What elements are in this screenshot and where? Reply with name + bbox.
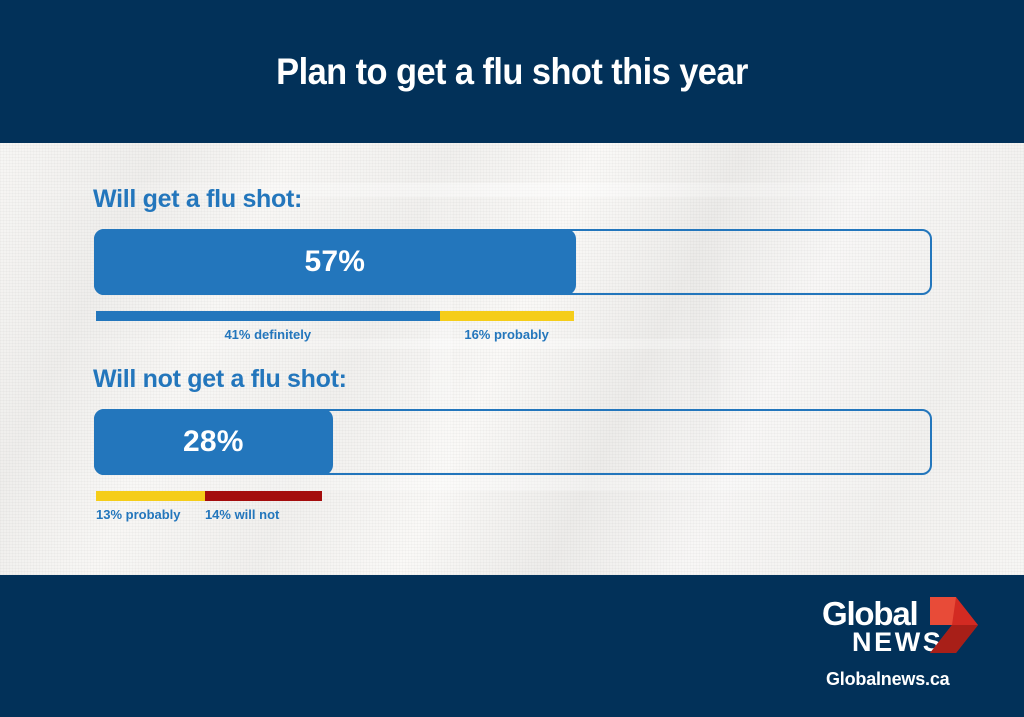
breakdown-segment-probably xyxy=(440,311,574,321)
breakdown-segment-definitely xyxy=(96,311,440,321)
breakdown-strip-will-not-get xyxy=(96,491,331,501)
bar-value-will-get: 57% xyxy=(305,245,366,279)
chart-area: Will get a flu shot: 57% 41% definitely … xyxy=(0,143,1024,575)
bar-track-will-get: 57% xyxy=(94,229,932,295)
logo-wordmark: Global NEWS xyxy=(820,599,980,665)
header-band: Plan to get a flu shot this year xyxy=(0,0,1024,143)
chevron-right-icon xyxy=(926,595,982,659)
legend-will-not-get: 13% probably 14% will not xyxy=(94,507,394,525)
legend-label-probably-not: 13% probably xyxy=(96,507,181,522)
breakdown-strip-will-get xyxy=(96,311,574,321)
legend-label-probably: 16% probably xyxy=(440,327,574,342)
footer-band: Global NEWS Globalnews.ca xyxy=(0,575,1024,717)
page-title: Plan to get a flu shot this year xyxy=(36,0,988,143)
breakdown-segment-will-not xyxy=(205,491,322,501)
logo-text-global: Global xyxy=(822,597,917,630)
legend-will-get: 41% definitely 16% probably xyxy=(96,327,556,345)
bar-fill-will-get: 57% xyxy=(94,229,576,295)
group-label-will-get: Will get a flu shot: xyxy=(93,185,302,214)
infographic-root: Plan to get a flu shot this year Will ge… xyxy=(0,0,1024,717)
bar-fill-will-not-get: 28% xyxy=(94,409,333,475)
logo-url-text: Globalnews.ca xyxy=(826,669,949,690)
breakdown-segment-probably-not xyxy=(96,491,205,501)
bar-track-will-not-get: 28% xyxy=(94,409,932,475)
group-label-will-not-get: Will not get a flu shot: xyxy=(93,365,347,394)
global-news-logo[interactable]: Global NEWS Globalnews.ca xyxy=(820,599,980,699)
legend-label-definitely: 41% definitely xyxy=(96,327,440,342)
legend-label-will-not: 14% will not xyxy=(205,507,279,522)
bar-value-will-not-get: 28% xyxy=(183,425,244,459)
